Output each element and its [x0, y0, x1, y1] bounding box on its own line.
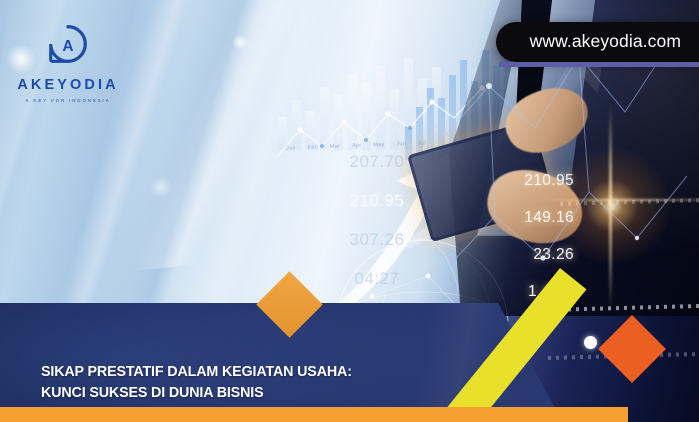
accent-dot-white — [584, 336, 597, 349]
url-accent-bar — [499, 62, 699, 67]
logo-letter: A — [62, 38, 73, 55]
speech-bubble-a-logo-icon: A — [48, 24, 88, 64]
bottom-orange-bar — [0, 407, 628, 422]
brand-name: AKEYODIA — [14, 78, 122, 93]
page-title-line-1: SIKAP PRESTATIF DALAM KEGIATAN USAHA: — [41, 362, 352, 383]
website-url-badge[interactable]: www.akeyodia.com — [496, 22, 699, 62]
page-title: SIKAP PRESTATIF DALAM KEGIATAN USAHA: KU… — [41, 362, 352, 404]
brand-tagline: A KEY FOR INDONESIA — [14, 98, 122, 103]
brand-logo[interactable]: A AKEYODIA A KEY FOR INDONESIA — [14, 24, 122, 103]
tick-jan: Jan — [286, 145, 296, 151]
page-title-line-2: KUNCI SUKSES DI DUNIA BISNIS — [41, 383, 352, 404]
blog-banner: Jan Feb Mar Apr May Jun Jul — [0, 0, 699, 422]
